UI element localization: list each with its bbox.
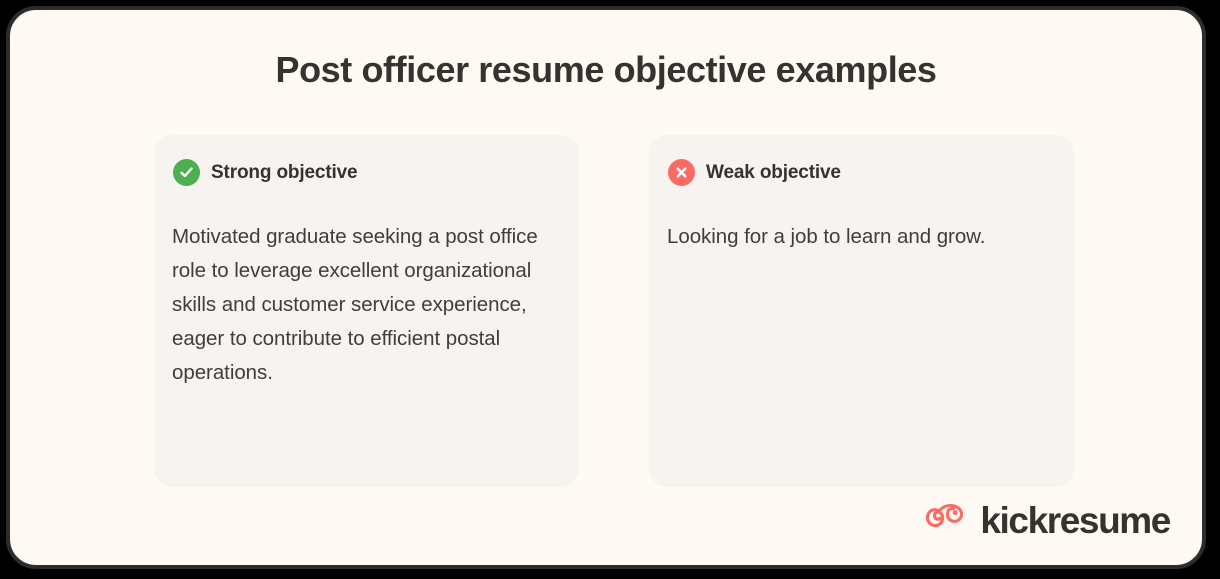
- chameleon-logo-icon: [923, 498, 967, 543]
- strong-objective-text: Motivated graduate seeking a post office…: [172, 220, 561, 390]
- strong-objective-header: Strong objective: [172, 159, 561, 186]
- content-frame: Post officer resume objective examples S…: [6, 6, 1206, 569]
- check-circle-icon: [173, 159, 200, 186]
- x-circle-icon: [668, 159, 695, 186]
- kickresume-wordmark: kickresume: [980, 502, 1170, 539]
- page-title: Post officer resume objective examples: [10, 48, 1202, 91]
- objective-cards-container: Strong objective Motivated graduate seek…: [154, 135, 1074, 487]
- strong-objective-card: Strong objective Motivated graduate seek…: [154, 135, 579, 487]
- weak-objective-text: Looking for a job to learn and grow.: [667, 220, 1056, 254]
- weak-objective-card: Weak objective Looking for a job to lear…: [649, 135, 1074, 487]
- weak-objective-title: Weak objective: [706, 162, 841, 184]
- kickresume-brand: kickresume: [923, 498, 1170, 543]
- strong-objective-title: Strong objective: [211, 162, 357, 184]
- weak-objective-header: Weak objective: [667, 159, 1056, 186]
